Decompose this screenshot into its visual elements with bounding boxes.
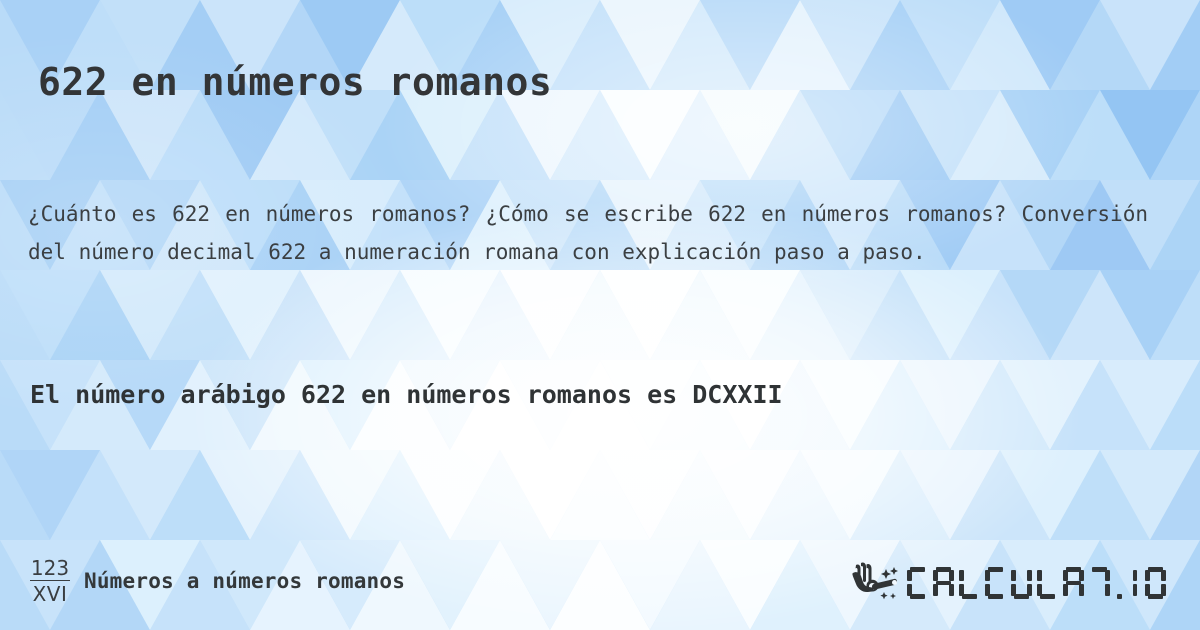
footer: 123 XVI Números a números romanos [0,538,1200,630]
page-title: 622 en números romanos [38,59,552,105]
logo-char-A2 [1063,567,1084,599]
answer-statement: El número arábigo 622 en números romanos… [30,373,1090,417]
fraction-numerator: 123 [31,558,69,579]
intro-paragraph: ¿Cuánto es 622 en números romanos? ¿Cómo… [28,195,1148,271]
logo-char-T [1089,567,1110,599]
calculatio-logo[interactable] [849,562,1166,602]
logo-char-I [1130,567,1140,599]
logo-char-U [1011,567,1032,599]
calculatio-logo-text [907,565,1166,599]
logo-char-C2 [985,567,1006,599]
logo-char-A [933,567,954,599]
logo-char-C [907,567,928,599]
fraction-bar [30,580,70,582]
brand-label: Números a números romanos [84,569,405,593]
logo-char-L [959,567,980,599]
fraction-denominator: XVI [33,583,68,604]
logo-char-O [1145,567,1166,599]
logo-char-dot [1115,567,1125,599]
hand-magic-wand-icon [849,562,903,602]
site-brand[interactable]: 123 XVI Números a números romanos [30,558,405,605]
og-image-canvas: 622 en números romanos ¿Cuánto es 622 en… [0,0,1200,630]
logo-char-L2 [1037,567,1058,599]
fraction-123-xvi-icon: 123 XVI [30,558,70,605]
content-area: 622 en números romanos ¿Cuánto es 622 en… [0,0,1200,630]
